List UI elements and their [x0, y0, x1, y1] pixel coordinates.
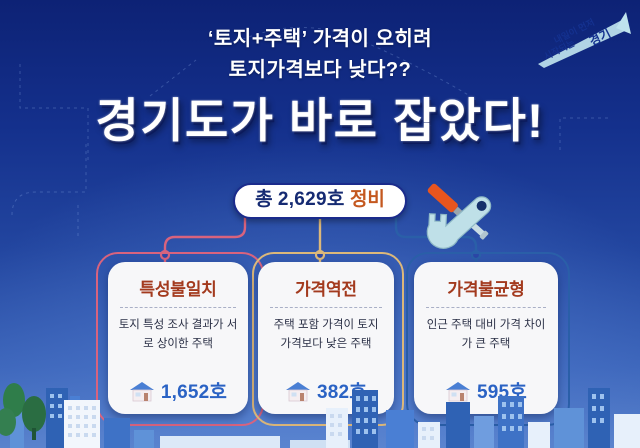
card-divider	[426, 307, 546, 308]
card-description: 주택 포함 가격이 토지 가격보다 낮은 주택	[267, 316, 385, 353]
infographic-poster: 내일이 먼저 시작되는 경기 ‘토지+주택’ 가격이 오히려 토지가격보다 낮다…	[0, 0, 640, 448]
card-title: 가격불균형	[414, 275, 558, 300]
card-title: 특성불일치	[108, 275, 248, 300]
subheadline: ‘토지+주택’ 가격이 오히려 토지가격보다 낮다??	[0, 24, 640, 86]
badge-count: 2,629호	[278, 189, 345, 210]
subheadline-line1: ‘토지+주택’ 가격이 오히려	[208, 28, 432, 50]
card-description: 토지 특성 조사 결과가 서로 상이한 주택	[117, 316, 239, 353]
badge-action: 정비	[350, 189, 385, 210]
card-divider	[120, 307, 236, 308]
status-badge: 총 2,629호 정비	[233, 183, 407, 219]
subheadline-line2: 토지가격보다 낮다??	[0, 55, 640, 86]
card-description: 인근 주택 대비 가격 차이가 큰 주택	[423, 316, 549, 353]
city-skyline	[0, 352, 640, 448]
card-divider	[270, 307, 382, 308]
card-title: 가격역전	[258, 275, 394, 300]
summary-badge-wrap: 총 2,629호 정비	[0, 183, 640, 219]
page-title: 경기도가 바로 잡았다!	[0, 96, 640, 145]
badge-prefix: 총	[255, 189, 272, 210]
